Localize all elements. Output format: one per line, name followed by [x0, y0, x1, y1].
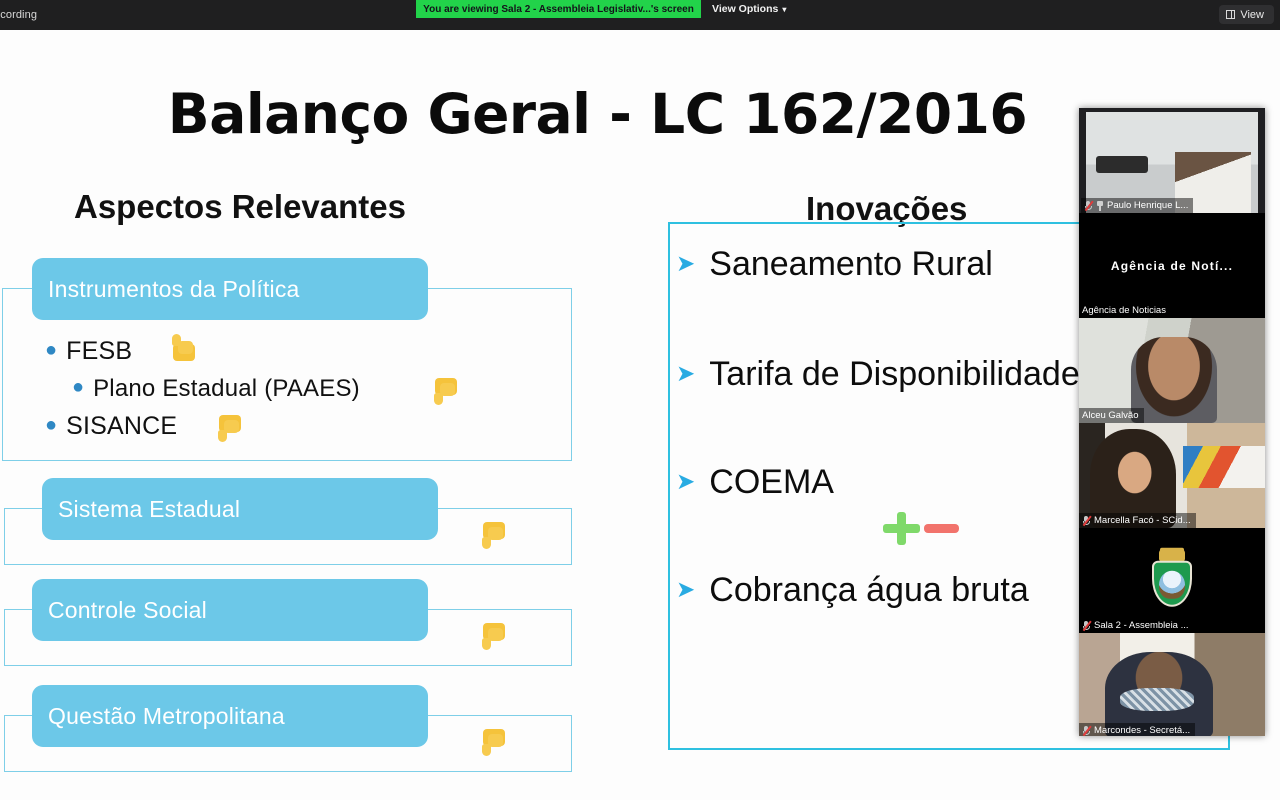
- pin-icon: [1096, 201, 1104, 211]
- view-layout-button[interactable]: View: [1219, 5, 1274, 24]
- screen-share-banner-text: You are viewing Sala 2 - Assembleia Legi…: [423, 4, 694, 15]
- thumbs-down-icon-plano-estadual: [432, 373, 466, 407]
- grid-icon: [1226, 10, 1235, 19]
- inovacao-label: COEMA: [709, 463, 834, 502]
- bullet-label: SISANCE: [66, 412, 177, 441]
- plus-icon: [883, 524, 920, 533]
- thumbs-down-icon-sistema-estadual: [480, 517, 514, 551]
- arrow-bullet-icon: ➤: [676, 576, 695, 603]
- thumbs-down-icon-sisance: [216, 410, 250, 444]
- section-pill-label: Controle Social: [48, 597, 207, 624]
- section-pill-questao-metropolitana: Questão Metropolitana: [32, 685, 428, 747]
- bullet-dot-icon: ●: [45, 415, 57, 435]
- participant-tile-paulo-henrique[interactable]: Paulo Henrique L...: [1079, 108, 1265, 213]
- slide-title: Balanço Geral - LC 162/2016: [0, 82, 1195, 146]
- participant-initials-label: Agência de Notí...: [1079, 259, 1265, 273]
- participant-name: Agência de Noticias: [1082, 305, 1166, 316]
- mic-muted-icon: [1082, 515, 1091, 526]
- mic-muted-icon: [1082, 620, 1091, 631]
- participant-name: Paulo Henrique L...: [1107, 200, 1188, 211]
- arrow-bullet-icon: ➤: [676, 250, 695, 277]
- mic-muted-icon: [1084, 200, 1093, 211]
- section-pill-instrumentos: Instrumentos da Política: [32, 258, 428, 320]
- participant-tile-alceu-galvao[interactable]: Alceu Galvão: [1079, 318, 1265, 423]
- thumbs-down-icon-questao-metropolitana: [480, 724, 514, 758]
- inovacao-item-tarifa-disponibilidade: ➤ Tarifa de Disponibilidade: [676, 355, 1080, 394]
- view-options-label: View Options: [712, 3, 778, 15]
- participant-name: Sala 2 - Assembleia ...: [1094, 620, 1189, 631]
- participant-name-bar: Paulo Henrique L...: [1081, 198, 1193, 213]
- ceara-coat-of-arms-icon: [1146, 548, 1198, 610]
- participant-name-bar: Marcella Facó - SCid...: [1079, 513, 1196, 528]
- bullet-plano-estadual: ● Plano Estadual (PAAES): [72, 375, 360, 403]
- inovacao-item-cobranca-agua-bruta: ➤ Cobrança água bruta: [676, 571, 1029, 610]
- inovacao-label: Cobrança água bruta: [709, 571, 1028, 610]
- bullet-sisance: ● SISANCE: [45, 412, 177, 441]
- thumbs-up-icon-fesb: [170, 332, 204, 366]
- inovacao-label: Saneamento Rural: [709, 245, 993, 284]
- inovacao-item-saneamento-rural: ➤ Saneamento Rural: [676, 245, 993, 284]
- mic-muted-icon: [1082, 725, 1091, 736]
- participant-video-feed: [1079, 633, 1265, 736]
- section-pill-label: Questão Metropolitana: [48, 703, 285, 730]
- bullet-label: FESB: [66, 337, 132, 366]
- arrow-bullet-icon: ➤: [676, 468, 695, 495]
- section-pill-label: Sistema Estadual: [58, 496, 240, 523]
- section-pill-controle-social: Controle Social: [32, 579, 428, 641]
- participant-video-strip[interactable]: Paulo Henrique L... Agência de Notí... A…: [1079, 108, 1265, 736]
- arrow-bullet-icon: ➤: [676, 360, 695, 387]
- inovacao-item-coema: ➤ COEMA: [676, 463, 834, 502]
- view-options-button[interactable]: View Options ▾: [712, 0, 786, 18]
- participant-name: Marcondes - Secretá...: [1094, 725, 1190, 736]
- plus-minus-icon-group: [880, 512, 960, 546]
- view-button-label: View: [1240, 9, 1264, 21]
- chevron-down-icon: ▾: [782, 6, 786, 14]
- minus-icon: [924, 524, 959, 533]
- participant-name-bar: Agência de Noticias: [1079, 303, 1171, 318]
- participant-name: Marcella Facó - SCid...: [1094, 515, 1191, 526]
- participant-tile-marcella-faco[interactable]: Marcella Facó - SCid...: [1079, 423, 1265, 528]
- zoom-top-bar: Recording You are viewing Sala 2 - Assem…: [0, 0, 1280, 30]
- participant-tile-agencia-de-noticias[interactable]: Agência de Notí... Agência de Noticias: [1079, 213, 1265, 318]
- bullet-fesb: ● FESB: [45, 337, 132, 366]
- bullet-dot-icon: ●: [72, 377, 84, 397]
- participant-name-bar: Alceu Galvão: [1079, 408, 1144, 423]
- bullet-label: Plano Estadual (PAAES): [93, 375, 360, 403]
- left-column-heading: Aspectos Relevantes: [74, 188, 406, 226]
- bullet-dot-icon: ●: [45, 340, 57, 360]
- thumbs-down-icon-controle-social: [480, 618, 514, 652]
- participant-name-bar: Sala 2 - Assembleia ...: [1079, 618, 1194, 633]
- participant-name-bar: Marcondes - Secretá...: [1079, 723, 1195, 736]
- participant-tile-sala-2-assembleia[interactable]: Sala 2 - Assembleia ...: [1079, 528, 1265, 633]
- inovacao-label: Tarifa de Disponibilidade: [709, 355, 1079, 394]
- section-pill-sistema-estadual: Sistema Estadual: [42, 478, 438, 540]
- participant-name: Alceu Galvão: [1082, 410, 1139, 421]
- screen-share-banner: You are viewing Sala 2 - Assembleia Legi…: [416, 0, 701, 18]
- section-pill-label: Instrumentos da Política: [48, 276, 300, 303]
- participant-tile-marcondes[interactable]: Marcondes - Secretá...: [1079, 633, 1265, 736]
- recording-indicator-label: Recording: [0, 9, 37, 21]
